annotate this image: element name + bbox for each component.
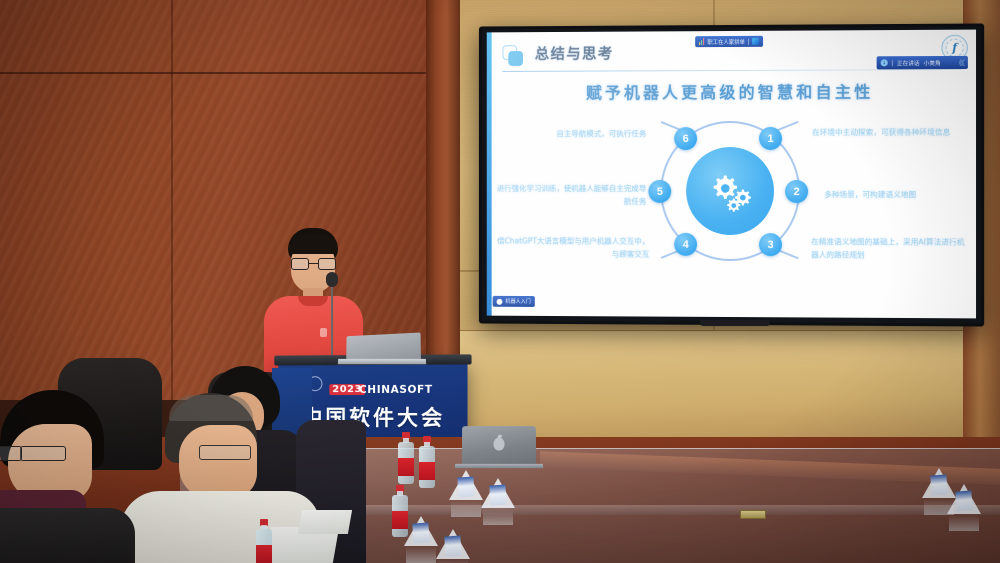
diagram-center-hub <box>686 147 774 235</box>
attendee-glasses-icon <box>20 446 66 461</box>
presenter-fringe <box>289 234 337 254</box>
rounded-square-stack-icon <box>502 45 524 66</box>
display-screen: 总结与思考 f 赋予机器人更高级的智慧和自主性 <box>487 30 976 319</box>
gears-icon <box>702 167 758 215</box>
nameplate-holder <box>481 478 515 512</box>
conference-room-scene: 总结与思考 f 赋予机器人更高级的智慧和自主性 <box>0 0 1000 563</box>
slide-main-heading: 赋予机器人更高级的智慧和自主性 <box>487 78 976 104</box>
diagram-label-3: 在精准语义地图的基础上，采用AI算法进行机器人的路径规划 <box>811 236 965 262</box>
badge-divider <box>892 60 893 66</box>
wall-seam-vertical <box>171 0 173 400</box>
stream-top-badge-label: 职工在人家拼单 <box>707 37 745 45</box>
water-bottle <box>392 485 408 537</box>
water-bottle <box>398 432 414 484</box>
apple-logo-icon <box>493 438 504 451</box>
diagram-label-5: 进行强化学习训练，使机器人能够自主完成导航任务 <box>497 183 647 209</box>
nameplate-holder <box>947 484 981 518</box>
nameplate-holder <box>404 516 438 550</box>
diagram-label-1: 在环境中主动探索，可获得各种环境信息 <box>812 127 964 140</box>
attendee-glasses-icon <box>0 446 22 461</box>
diagram-node-2[interactable]: 2 <box>785 180 808 203</box>
stream-right-badge-label: 正在讲话 <box>897 59 920 67</box>
logo-mark: f <box>952 41 957 54</box>
slide-accent-bar <box>487 32 492 315</box>
attendee-front-left <box>0 390 140 563</box>
diagram-node-1[interactable]: 1 <box>759 127 782 150</box>
presentation-slide: 总结与思考 f 赋予机器人更高级的智慧和自主性 <box>487 30 976 319</box>
diagram-label-4: 借ChatGPT大语言模型与用户机器人交互中，与顾客交互 <box>497 235 650 261</box>
wall-right-lower-panel <box>455 330 1000 450</box>
diagram-node-4[interactable]: 4 <box>674 233 697 256</box>
water-bottle <box>256 519 272 563</box>
microphone-stand <box>331 280 333 360</box>
podium-laptop-base <box>338 359 426 364</box>
slide-header-rule <box>502 69 961 72</box>
nameplate-holder <box>449 470 483 504</box>
circle-dot-icon <box>497 298 503 304</box>
nameplate-holder <box>436 529 470 563</box>
water-bottle <box>419 436 435 488</box>
presentation-display: 总结与思考 f 赋予机器人更高级的智慧和自主性 <box>479 23 984 326</box>
presenter-shirt-logo <box>320 328 327 337</box>
diagram-node-6[interactable]: 6 <box>674 127 697 150</box>
stream-top-badge[interactable]: 职工在人家拼单 <box>695 36 763 47</box>
macbook-base <box>455 464 543 468</box>
diagram-tick-3 <box>777 249 798 259</box>
microphone-icon <box>326 272 338 287</box>
attendee-glasses-icon <box>199 445 251 460</box>
wall-seam-horizontal <box>0 72 455 74</box>
download-icon: ↓ <box>881 59 888 66</box>
stream-right-badge-sublabel: 小美角 <box>924 59 941 67</box>
presenter-glasses-icon <box>291 258 336 270</box>
stream-bottom-left-label: 机器人入门 <box>505 298 530 305</box>
badge-divider <box>748 38 749 44</box>
paper-document <box>298 510 352 534</box>
app-logo-icon <box>752 38 759 45</box>
chevron-left-icon: 《《 <box>955 57 964 67</box>
diagram-node-3[interactable]: 3 <box>759 233 782 256</box>
diagram-label-6: 自主导航模式，可执行任务 <box>500 128 646 141</box>
slide-section-title: 总结与思考 <box>535 43 614 64</box>
stream-right-badge[interactable]: ↓ 正在讲话 小美角 《《 <box>877 56 968 70</box>
wall-plaque <box>740 510 766 519</box>
diagram-node-5[interactable]: 5 <box>648 180 671 203</box>
diagram-tick-1 <box>777 121 798 131</box>
diagram-label-2: 多种场景，可构建语义地图 <box>824 189 971 202</box>
podium-brand-en: CHINASOFT <box>359 384 433 396</box>
circular-process-diagram: 1 2 3 4 5 6 <box>642 113 818 276</box>
macbook-laptop <box>462 426 536 466</box>
bar-chart-icon <box>699 39 704 45</box>
display-stand <box>700 320 770 326</box>
stream-bottom-left-badge[interactable]: 机器人入门 <box>493 296 535 307</box>
